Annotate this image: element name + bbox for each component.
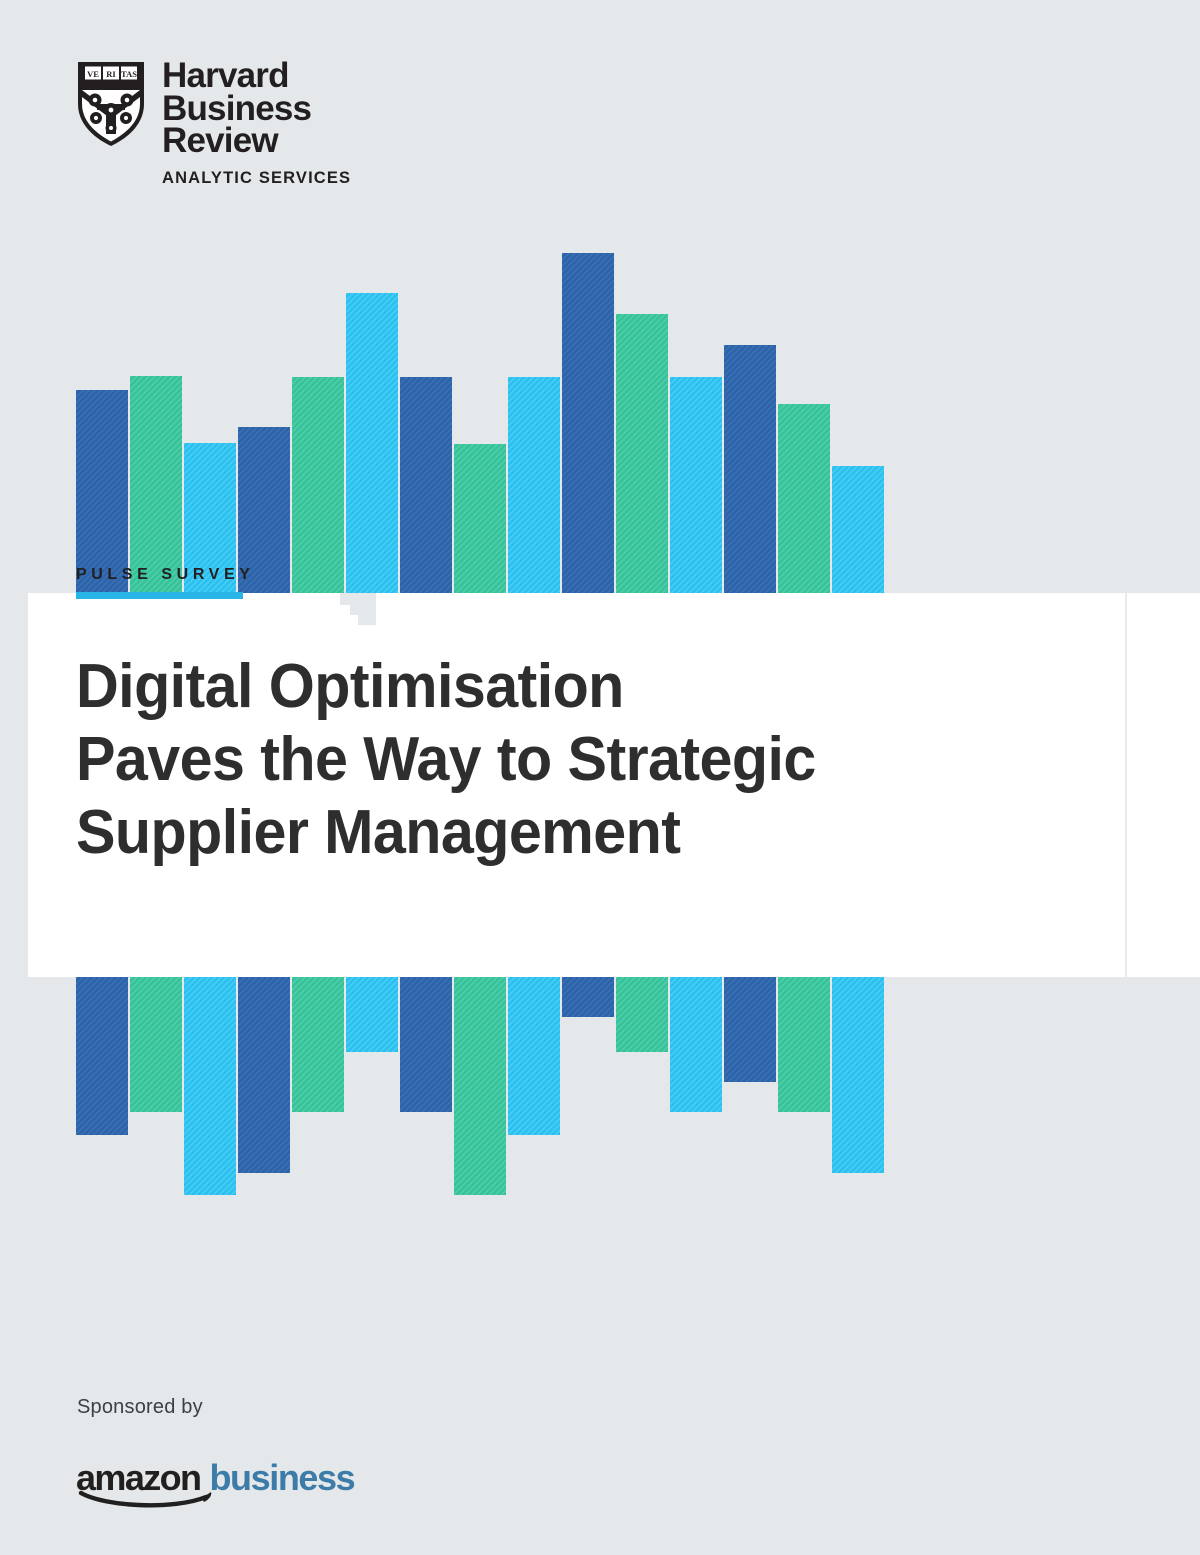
amazon-business-logo: amazon business bbox=[76, 1460, 354, 1496]
chart-bar bbox=[616, 314, 668, 593]
chart-bar bbox=[832, 466, 884, 593]
logo-row: VE RI TAS bbox=[76, 60, 311, 158]
title-line-3: Supplier Management bbox=[76, 796, 936, 869]
logo-subtitle: ANALYTIC SERVICES bbox=[162, 169, 351, 188]
chart-bar bbox=[238, 977, 290, 1173]
chart-bar bbox=[778, 977, 830, 1112]
chart-bar bbox=[184, 977, 236, 1195]
svg-text:RI: RI bbox=[106, 69, 116, 79]
svg-text:TAS: TAS bbox=[121, 69, 137, 79]
chart-bar bbox=[346, 977, 398, 1052]
chart-bar bbox=[130, 376, 182, 593]
chart-bar bbox=[130, 977, 182, 1112]
top-bar-chart bbox=[0, 200, 1200, 593]
chart-bar bbox=[616, 977, 668, 1052]
panel-notch-step bbox=[358, 615, 376, 625]
panel-notch-step bbox=[340, 593, 376, 605]
panel-notch-step bbox=[350, 605, 376, 615]
chart-bar bbox=[292, 977, 344, 1112]
hbr-wordmark: Harvard Business Review bbox=[162, 60, 311, 158]
wordmark-line-3: Review bbox=[162, 125, 311, 158]
chart-bar bbox=[562, 977, 614, 1017]
sponsored-by-label: Sponsored by bbox=[77, 1396, 203, 1419]
chart-bar bbox=[562, 253, 614, 593]
hbr-logo: VE RI TAS bbox=[76, 60, 351, 188]
title-line-1: Digital Optimisation bbox=[76, 650, 936, 723]
chart-bar bbox=[508, 977, 560, 1135]
chart-bar bbox=[508, 377, 560, 593]
chart-bar bbox=[76, 390, 128, 593]
chart-bar bbox=[454, 977, 506, 1195]
harvard-shield-icon: VE RI TAS bbox=[76, 60, 146, 148]
chart-bar bbox=[346, 293, 398, 593]
wordmark-line-1: Harvard bbox=[162, 60, 311, 93]
chart-bar bbox=[670, 377, 722, 593]
eyebrow: PULSE SURVEY bbox=[76, 566, 255, 599]
title-line-2: Paves the Way to Strategic bbox=[76, 723, 936, 796]
chart-bar bbox=[724, 345, 776, 593]
chart-bar bbox=[76, 977, 128, 1135]
business-wordmark: business bbox=[209, 1460, 354, 1496]
amazon-smile-arrow-icon bbox=[78, 1490, 226, 1510]
bottom-bar-chart bbox=[0, 977, 1200, 1237]
chart-bar bbox=[292, 377, 344, 593]
panel-divider bbox=[1125, 593, 1127, 977]
chart-bar bbox=[400, 977, 452, 1112]
chart-bar bbox=[724, 977, 776, 1082]
page-title: Digital Optimisation Paves the Way to St… bbox=[76, 650, 936, 869]
chart-bar bbox=[400, 377, 452, 593]
chart-bar bbox=[832, 977, 884, 1173]
amazon-mark: amazon bbox=[76, 1460, 200, 1496]
eyebrow-underline bbox=[76, 592, 243, 599]
eyebrow-label: PULSE SURVEY bbox=[76, 566, 255, 584]
document-cover-page: VE RI TAS bbox=[0, 0, 1200, 1555]
svg-text:VE: VE bbox=[87, 69, 99, 79]
chart-bar bbox=[670, 977, 722, 1112]
chart-bar bbox=[454, 444, 506, 593]
chart-bar bbox=[778, 404, 830, 593]
